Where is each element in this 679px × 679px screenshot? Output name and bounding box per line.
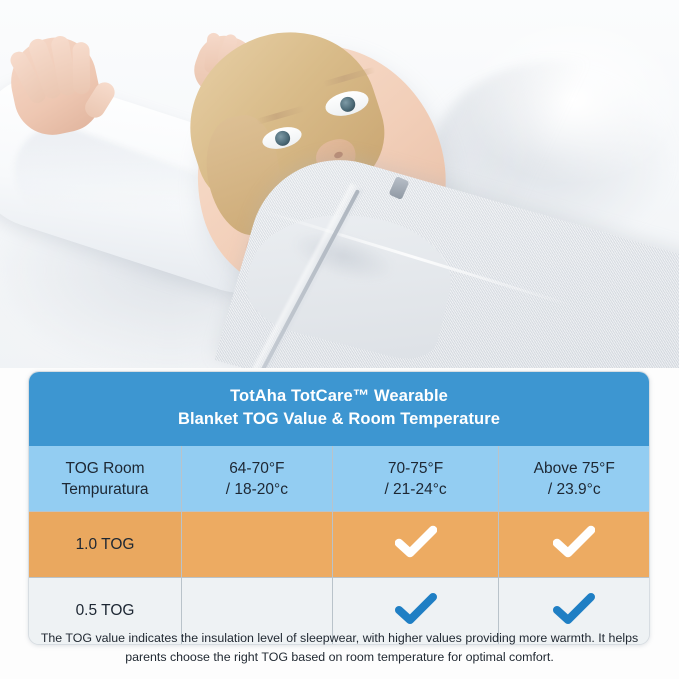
product-infographic: TotAha TotCare™ Wearable Blanket TOG Val…: [0, 0, 679, 679]
checkmark-icon: [395, 525, 437, 559]
tog-explanation-line1: The TOG value indicates the insulation l…: [41, 631, 638, 645]
column-header-temp-2: 70-75°F / 21-24°c: [332, 446, 499, 512]
checkmark-icon: [395, 592, 437, 626]
product-photo: [0, 0, 679, 368]
row-label-tog-1-0: 1.0 TOG: [29, 512, 182, 578]
column-header-temp-1: 64-70°F / 18-20°c: [182, 446, 333, 512]
iris: [274, 129, 292, 147]
cell-tog-1-0-col-3: [499, 512, 649, 578]
column-header-line1: 64-70°F: [229, 460, 284, 477]
cell-tog-1-0-col-2: [332, 512, 499, 578]
column-header-line2: / 18-20°c: [182, 479, 332, 500]
column-header-line2: / 23.9°c: [499, 479, 649, 500]
cell-tog-1-0-col-1: [182, 512, 333, 578]
column-header-line1: 70-75°F: [388, 460, 443, 477]
column-header-line2: / 21-24°c: [333, 479, 499, 500]
tog-table-title-line1-text: TotAha TotCare™ Wearable: [230, 387, 448, 405]
column-header-line2: Tempuratura: [29, 479, 181, 500]
tog-table-title-line2-text: Blanket TOG Value & Room Temperature: [178, 410, 500, 428]
tog-value-table: TOG Room Tempuratura 64-70°F / 18-20°c 7…: [29, 446, 649, 644]
table-header-row: TOG Room Tempuratura 64-70°F / 18-20°c 7…: [29, 446, 649, 512]
column-header-tog-room: TOG Room Tempuratura: [29, 446, 182, 512]
tog-table: TotAha TotCare™ Wearable Blanket TOG Val…: [28, 371, 650, 645]
tog-table-title: TotAha TotCare™ Wearable Blanket TOG Val…: [29, 372, 649, 446]
table-row-tog-1-0: 1.0 TOG: [29, 512, 649, 578]
tog-table-title-line1: TotAha TotCare™ Wearable: [39, 385, 639, 408]
column-header-line1: TOG Room: [66, 460, 145, 477]
column-header-temp-3: Above 75°F / 23.9°c: [499, 446, 649, 512]
finger: [72, 42, 90, 94]
checkmark-icon: [553, 592, 595, 626]
column-header-line1: Above 75°F: [534, 460, 615, 477]
tog-table-title-line2: Blanket TOG Value & Room Temperature: [39, 408, 639, 431]
checkmark-icon: [553, 525, 595, 559]
iris: [339, 95, 357, 113]
tog-explanation-note: The TOG value indicates the insulation l…: [20, 629, 659, 667]
tog-explanation-line2: parents choose the right TOG based on ro…: [125, 650, 554, 664]
